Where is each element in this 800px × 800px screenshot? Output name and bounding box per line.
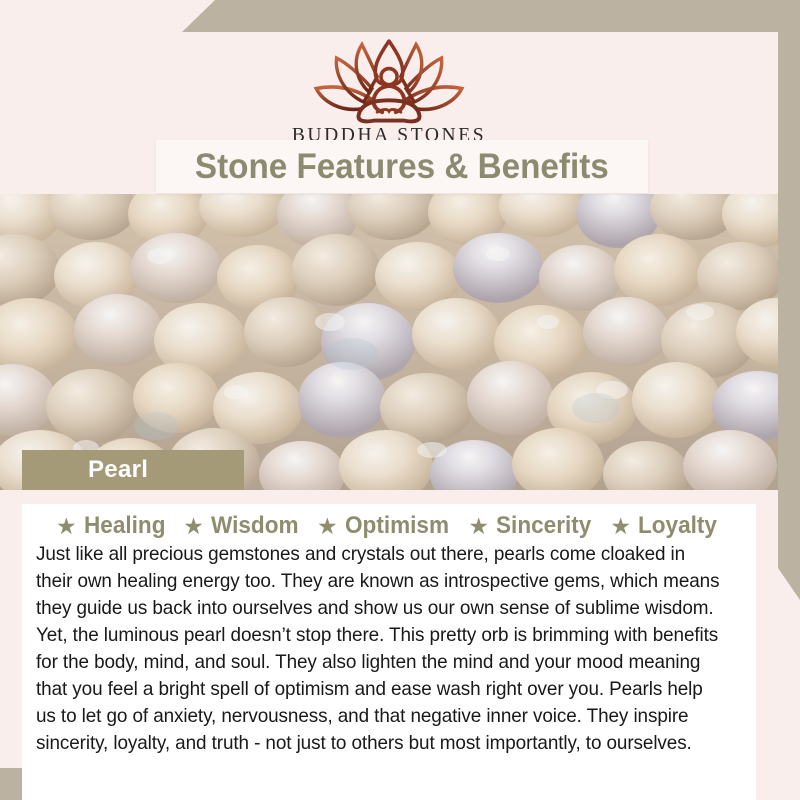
lotus-meditation-icon xyxy=(304,36,474,124)
star-icon: ★ xyxy=(468,515,489,538)
title-banner: Stone Features & Benefits xyxy=(156,140,648,193)
benefit-label: Healing xyxy=(84,512,165,540)
benefit-item-loyalty: ★ Loyalty xyxy=(610,512,722,540)
benefit-item-sincerity: ★ Sincerity xyxy=(468,512,597,540)
content-card: ★ Healing ★ Wisdom ★ Optimism ★ Sincerit… xyxy=(22,490,756,800)
benefit-item-optimism: ★ Optimism xyxy=(317,512,455,540)
star-icon: ★ xyxy=(56,515,77,538)
hero-photo: Pearl xyxy=(0,194,778,490)
star-icon: ★ xyxy=(317,515,338,538)
benefit-label: Optimism xyxy=(345,512,449,540)
stone-name-label: Pearl xyxy=(22,456,148,484)
star-icon: ★ xyxy=(610,515,631,538)
benefit-label: Sincerity xyxy=(496,512,591,540)
pearls-photo-illustration xyxy=(0,194,778,490)
star-icon: ★ xyxy=(183,515,204,538)
frame-right-band xyxy=(778,0,800,600)
poster-page: BUDDHA STONES Stone Features & Benefits xyxy=(0,32,778,768)
benefit-label: Wisdom xyxy=(211,512,299,540)
benefit-item-healing: ★ Healing xyxy=(56,512,170,540)
infographic-poster: BUDDHA STONES Stone Features & Benefits xyxy=(0,0,800,800)
benefit-item-wisdom: ★ Wisdom xyxy=(183,512,304,540)
benefits-row: ★ Healing ★ Wisdom ★ Optimism ★ Sincerit… xyxy=(22,512,756,540)
frame-top-band xyxy=(0,0,800,34)
card-top-strip xyxy=(22,490,756,504)
page-title: Stone Features & Benefits xyxy=(195,147,609,187)
description-paragraph: Just like all precious gemstones and cry… xyxy=(36,541,724,757)
benefit-label: Loyalty xyxy=(638,512,717,540)
stone-name-tab: Pearl xyxy=(22,450,244,490)
